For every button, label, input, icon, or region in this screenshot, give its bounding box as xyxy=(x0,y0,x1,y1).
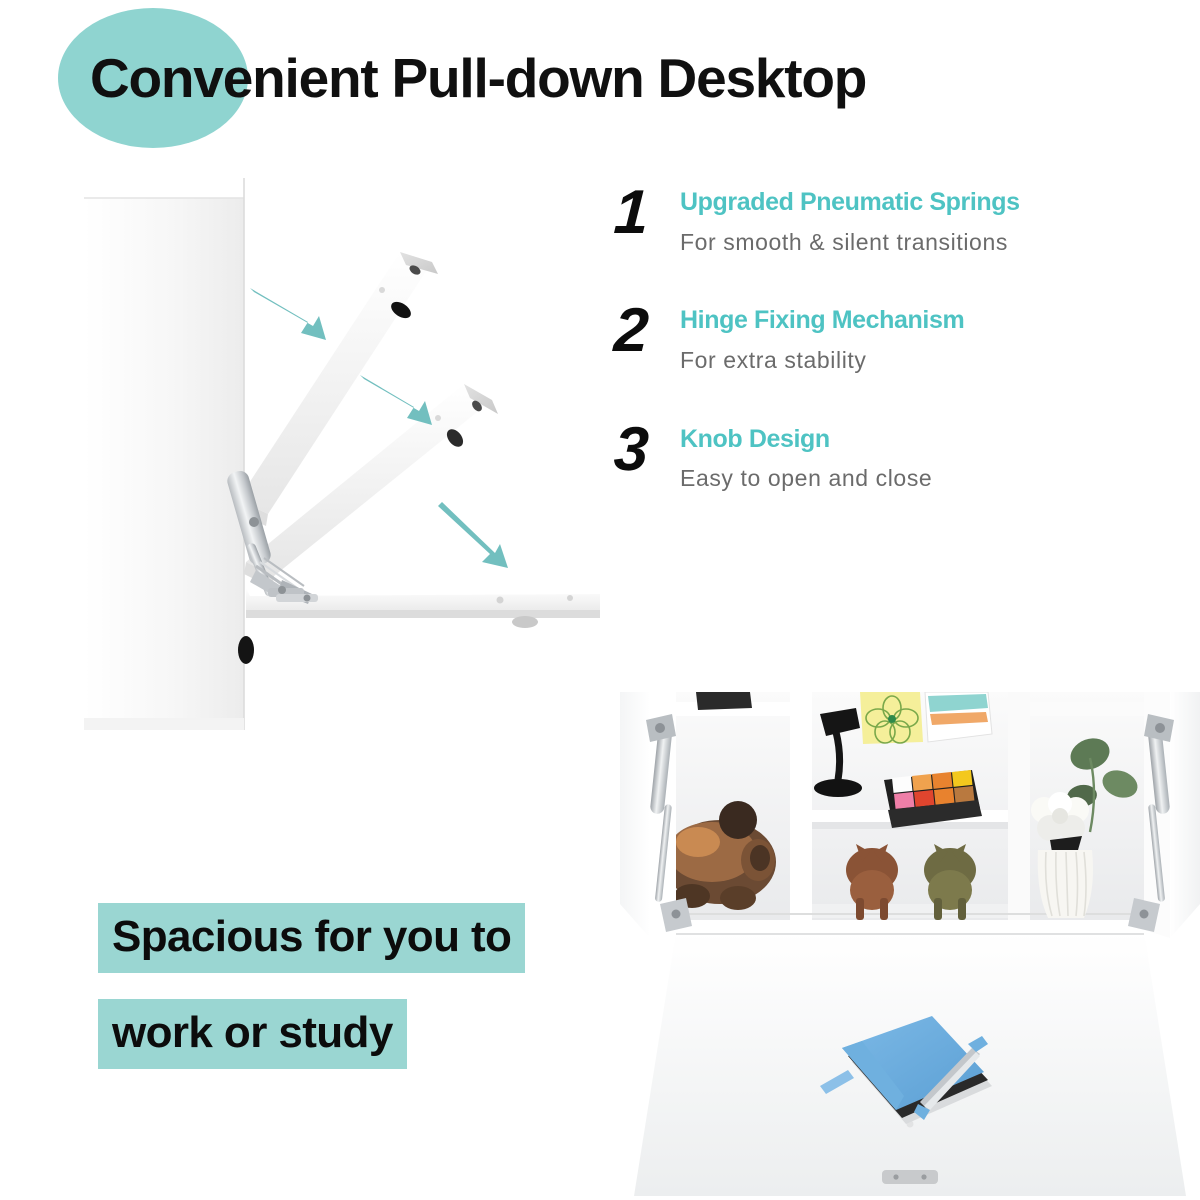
feature-title: Upgraded Pneumatic Springs xyxy=(680,188,1184,217)
white-flower xyxy=(1031,792,1089,841)
feature-title: Knob Design xyxy=(680,425,1184,454)
dark-object-decor xyxy=(696,692,752,710)
feature-list: 1 Upgraded Pneumatic Springs For smooth … xyxy=(614,184,1184,539)
callout-line-1: Spacious for you to xyxy=(98,903,525,973)
feature-number: 2 xyxy=(612,302,681,361)
page-title: Convenient Pull-down Desktop xyxy=(90,46,1180,110)
desktop-latch-plate xyxy=(882,1170,938,1184)
right-door-panel xyxy=(1170,692,1200,938)
feature-subtitle: For smooth & silent transitions xyxy=(680,229,1184,257)
spacious-callout: Spacious for you to work or study xyxy=(98,903,525,1069)
feature-item-1: 1 Upgraded Pneumatic Springs For smooth … xyxy=(614,184,1184,256)
callout-line-2: work or study xyxy=(98,999,407,1069)
open-desk-product-photo xyxy=(620,692,1200,1200)
feature-number: 1 xyxy=(612,184,681,243)
feature-number: 3 xyxy=(612,421,681,480)
desktop-panel-position-closed xyxy=(236,252,438,526)
feature-body: Hinge Fixing Mechanism For extra stabili… xyxy=(680,302,1184,374)
left-door-panel xyxy=(620,692,650,938)
feature-body: Knob Design Easy to open and close xyxy=(680,421,1184,493)
feature-item-2: 2 Hinge Fixing Mechanism For extra stabi… xyxy=(614,302,1184,374)
cabinet-knob-icon xyxy=(238,636,254,664)
feature-title: Hinge Fixing Mechanism xyxy=(680,306,1184,335)
side-view-illustration xyxy=(60,170,635,735)
side-view-product-photo xyxy=(60,170,635,735)
feature-subtitle: Easy to open and close xyxy=(680,465,1184,493)
cabinet-side-body xyxy=(84,178,244,730)
feature-item-3: 3 Knob Design Easy to open and close xyxy=(614,421,1184,493)
feature-body: Upgraded Pneumatic Springs For smooth & … xyxy=(680,184,1184,256)
motion-arrow-2-icon xyxy=(360,375,432,425)
infographic-page: Convenient Pull-down Desktop xyxy=(0,0,1200,1200)
feature-subtitle: For extra stability xyxy=(680,347,1184,375)
motion-arrow-1-icon xyxy=(250,288,326,340)
open-desk-illustration xyxy=(620,692,1200,1200)
motion-arrow-3-icon xyxy=(438,502,508,568)
